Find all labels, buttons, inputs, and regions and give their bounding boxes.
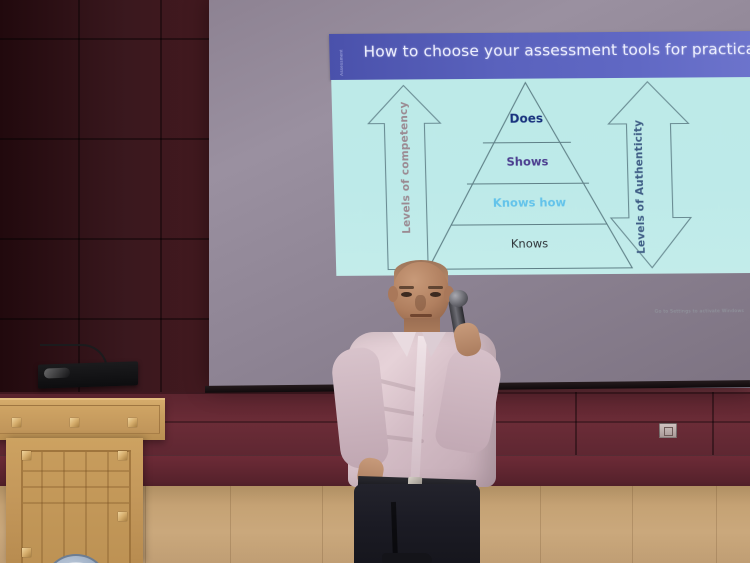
podium-grid-line [107, 452, 109, 563]
podium-grid-line [23, 502, 129, 504]
podium-stud [70, 418, 79, 427]
podium-stud [118, 451, 127, 460]
pyramid-level-shows: Shows [467, 154, 587, 169]
slide-side-tag: Assessment [338, 40, 351, 76]
screenshot-root: Assessment How to choose your assessment… [0, 0, 750, 563]
pyramid-divider-2 [467, 183, 589, 184]
speaker-brow-left [399, 286, 414, 289]
floor-plank-line [716, 486, 717, 563]
podium-grid-line [23, 486, 129, 488]
speaker-eye-left [401, 292, 412, 297]
shirt-collar-left [392, 332, 416, 357]
speaker-trousers [354, 484, 480, 563]
pyramid-level-does: Does [466, 111, 586, 126]
speaker [330, 262, 520, 563]
podium-stud [22, 548, 31, 557]
podium-stud [22, 451, 31, 460]
pyramid-divider-1 [483, 142, 571, 143]
speaker-nose [415, 295, 426, 311]
shirt-collar-right [422, 332, 446, 357]
lower-wall-seam [575, 392, 577, 456]
speaker-ear-left [388, 286, 398, 302]
podium-stud [118, 512, 127, 521]
slide-title-bar: Assessment How to choose your assessment… [329, 31, 750, 80]
speaker-shoe [382, 553, 432, 563]
speaker-eye-right [430, 292, 441, 297]
podium-laptop [38, 361, 138, 388]
presentation-slide: Assessment How to choose your assessment… [329, 31, 750, 284]
windows-activation-watermark: Go to Settings to activate Windows [637, 309, 750, 315]
speaker-mouth [410, 314, 432, 317]
pyramid-level-knows: Knows [469, 236, 589, 251]
pyramid-level-knows-how: Knows how [454, 195, 604, 210]
podium-front-panel [21, 450, 131, 563]
podium-grid-line [85, 452, 87, 563]
pyramid-divider-3 [451, 224, 607, 225]
wall-outlet [659, 423, 677, 438]
lower-wall-seam [712, 392, 714, 456]
laptop-screen-glare [44, 368, 70, 379]
podium-stud [128, 418, 137, 427]
podium-body [6, 438, 143, 563]
slide-title-text: How to choose your assessment tools for … [363, 40, 750, 61]
floor-plank-line [230, 486, 231, 563]
floor-plank-line [632, 486, 633, 563]
podium-top [0, 398, 165, 440]
floor-plank-line [322, 486, 323, 563]
floor-plank-line [540, 486, 541, 563]
floor-plank-line [145, 486, 146, 563]
podium-grid-line [23, 470, 129, 472]
podium-stud [12, 418, 21, 427]
speaker-brow-right [428, 286, 443, 289]
levels-of-authenticity-arrow [607, 81, 692, 267]
podium-grid-line [41, 452, 43, 563]
podium-grid-line [63, 452, 65, 563]
slide-body: Does Shows Knows how Knows Levels of com… [331, 77, 750, 276]
